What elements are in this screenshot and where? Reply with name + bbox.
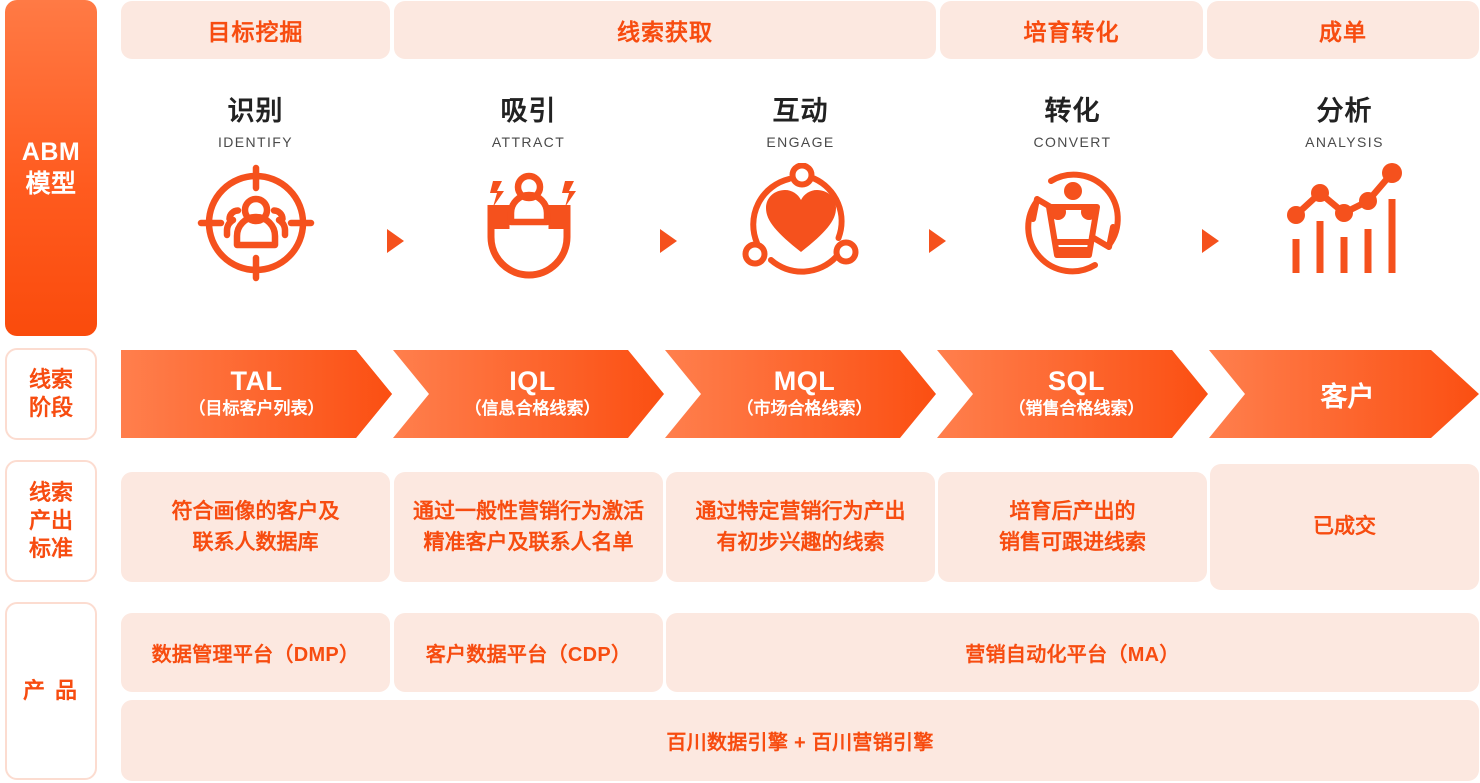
lead-stage-sub: （市场合格线索） — [737, 396, 873, 422]
rail-stage-line1: 线索 — [29, 366, 73, 394]
abm-funnel-diagram: ABM 模型 线索 阶段 线索 产出 标准 产 品 目标挖掘 线索获取 培育转化… — [0, 0, 1480, 783]
criteria-line-2: 精准客户及联系人名单 — [413, 527, 644, 559]
criteria-line-1: 培育后产出的 — [999, 496, 1146, 528]
step-title-en: ANALYSIS — [1305, 135, 1384, 149]
criteria-line-1: 通过一般性营销行为激活 — [413, 496, 644, 528]
criteria-box-3[interactable]: 培育后产出的 销售可跟进线索 — [938, 472, 1207, 582]
product-label: 百川数据引擎 + 百川营销引擎 — [666, 726, 933, 755]
step-title-cn: 识别 — [228, 98, 284, 125]
step-title-cn: 吸引 — [501, 98, 557, 125]
criteria-box-4[interactable]: 已成交 — [1210, 464, 1479, 590]
lead-stage-sub: （信息合格线索） — [465, 396, 601, 422]
rail-label-abm-model: ABM 模型 — [5, 0, 97, 336]
phase-header-3[interactable]: 成单 — [1207, 1, 1479, 59]
step-title-cn: 分析 — [1317, 98, 1373, 125]
product-box-engines[interactable]: 百川数据引擎 + 百川营销引擎 — [121, 700, 1479, 781]
phase-header-2[interactable]: 培育转化 — [940, 1, 1203, 59]
lead-stage-customer[interactable]: 客户 — [1215, 348, 1480, 440]
rail-abm-line2: 模型 — [22, 168, 80, 200]
rail-label-product: 产 品 — [5, 602, 97, 780]
rail-label-lead-criteria: 线索 产出 标准 — [5, 460, 97, 582]
rail-crit-line1: 线索 — [29, 479, 73, 507]
lead-stage-main: IQL — [509, 367, 556, 396]
step-title-en: ATTRACT — [492, 135, 565, 149]
step-title-en: CONVERT — [1034, 135, 1112, 149]
lead-stage-mql[interactable]: MQL （市场合格线索） — [669, 348, 940, 440]
rail-product-text: 产 品 — [23, 677, 79, 705]
criteria-line-1: 已成交 — [1313, 511, 1376, 543]
rail-crit-line2: 产出 — [29, 507, 73, 535]
heart-network-icon — [741, 163, 861, 288]
step-cell-attract: 吸引 ATTRACT — [394, 98, 663, 288]
rail-abm-line1: ABM — [22, 136, 80, 168]
product-box-dmp[interactable]: 数据管理平台（DMP） — [121, 613, 390, 692]
phase-header-label: 培育转化 — [1024, 13, 1120, 47]
funnel-refresh-icon — [1013, 163, 1133, 288]
step-cell-analysis: 分析 ANALYSIS — [1210, 98, 1479, 288]
target-people-icon — [196, 163, 316, 288]
step-cell-convert: 转化 CONVERT — [938, 98, 1207, 288]
product-box-ma[interactable]: 营销自动化平台（MA） — [666, 613, 1479, 692]
step-cell-identify: 识别 IDENTIFY — [121, 98, 390, 288]
phase-header-label: 目标挖掘 — [208, 13, 304, 47]
criteria-line-2: 联系人数据库 — [172, 527, 340, 559]
magnet-person-icon — [469, 163, 589, 288]
lead-stage-sql[interactable]: SQL （销售合格线索） — [941, 348, 1212, 440]
lead-stage-sub: （目标客户列表） — [189, 396, 325, 422]
step-title-en: ENGAGE — [766, 135, 834, 149]
criteria-box-1[interactable]: 通过一般性营销行为激活 精准客户及联系人名单 — [394, 472, 663, 582]
rail-label-lead-stage: 线索 阶段 — [5, 348, 97, 440]
lead-stage-iql[interactable]: IQL （信息合格线索） — [397, 348, 668, 440]
product-box-cdp[interactable]: 客户数据平台（CDP） — [394, 613, 663, 692]
phase-header-0[interactable]: 目标挖掘 — [121, 1, 390, 59]
lead-stage-main: 客户 — [1321, 375, 1375, 414]
step-cell-engage: 互动 ENGAGE — [666, 98, 935, 288]
product-label: 客户数据平台（CDP） — [426, 638, 632, 667]
line-bar-chart-icon — [1284, 163, 1406, 288]
product-label: 营销自动化平台（MA） — [965, 638, 1179, 667]
phase-header-label: 成单 — [1319, 13, 1367, 47]
step-title-en: IDENTIFY — [218, 135, 293, 149]
phase-header-label: 线索获取 — [617, 13, 713, 47]
rail-stage-line2: 阶段 — [29, 394, 73, 422]
criteria-line-1: 通过特定营销行为产出 — [696, 496, 906, 528]
step-title-cn: 互动 — [773, 98, 829, 125]
lead-stage-main: MQL — [774, 367, 836, 396]
criteria-line-1: 符合画像的客户及 — [172, 496, 340, 528]
criteria-line-2: 销售可跟进线索 — [999, 527, 1146, 559]
lead-stage-tal[interactable]: TAL （目标客户列表） — [121, 348, 392, 440]
product-label: 数据管理平台（DMP） — [152, 638, 360, 667]
lead-stage-main: SQL — [1048, 367, 1105, 396]
phase-header-1[interactable]: 线索获取 — [394, 1, 936, 59]
lead-stage-main: TAL — [231, 367, 283, 396]
lead-stage-sub: （销售合格线索） — [1009, 396, 1145, 422]
criteria-box-2[interactable]: 通过特定营销行为产出 有初步兴趣的线索 — [666, 472, 935, 582]
criteria-line-2: 有初步兴趣的线索 — [696, 527, 906, 559]
step-title-cn: 转化 — [1045, 98, 1101, 125]
criteria-box-0[interactable]: 符合画像的客户及 联系人数据库 — [121, 472, 390, 582]
rail-crit-line3: 标准 — [29, 535, 73, 563]
